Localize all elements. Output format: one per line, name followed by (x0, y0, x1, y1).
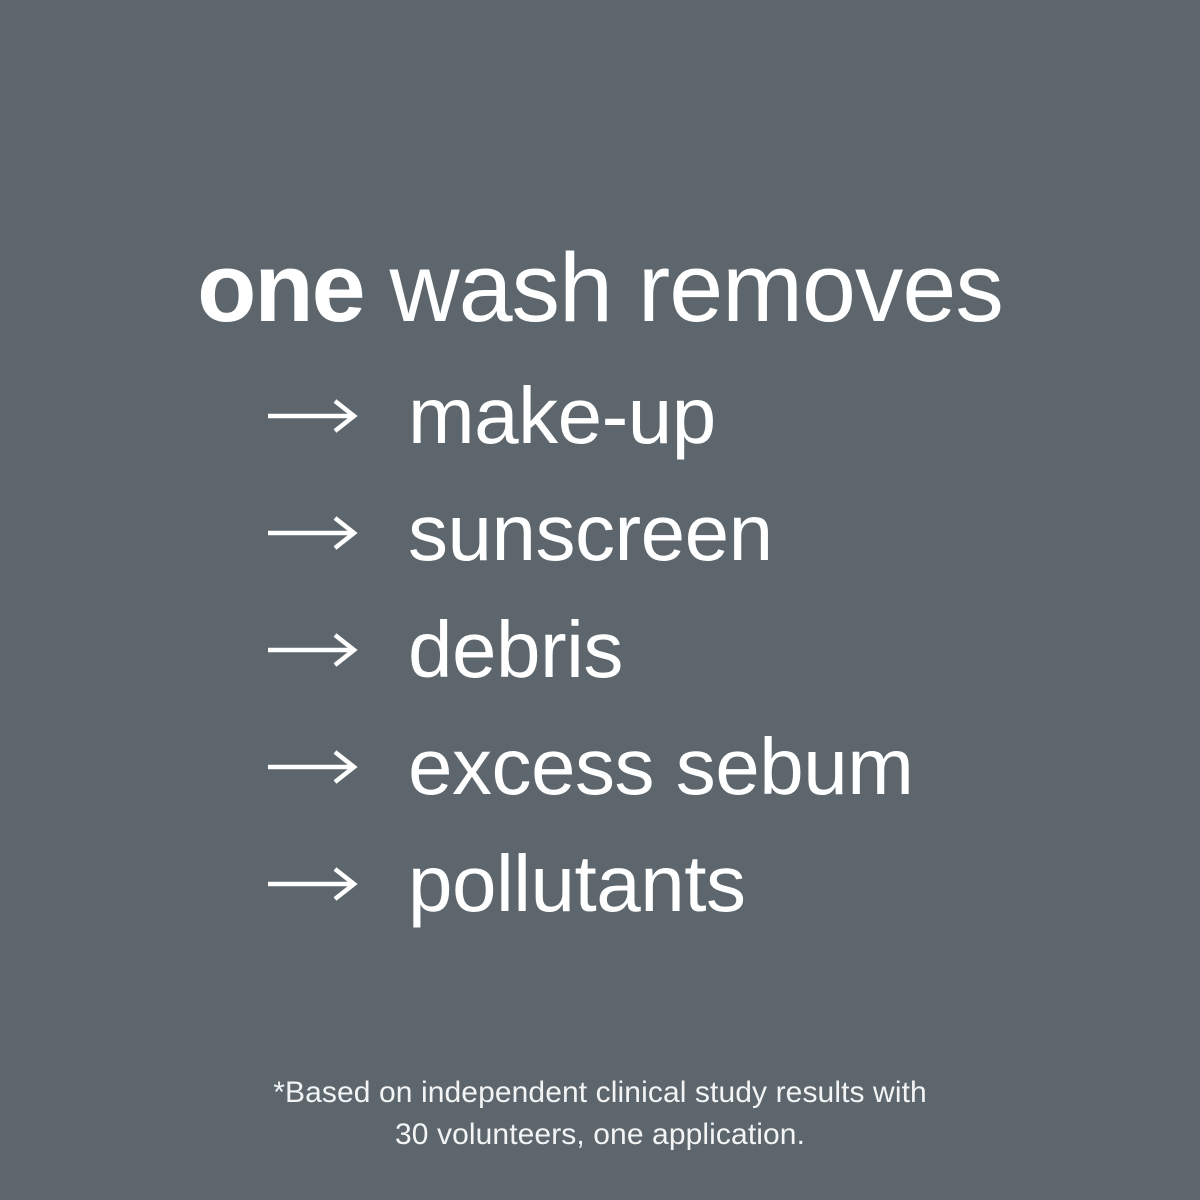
long-right-arrow-icon (266, 396, 362, 436)
benefits-list: make-up sunscreen debris (266, 373, 1126, 927)
benefit-label: make-up (408, 373, 716, 459)
headline-rest: wash removes (364, 233, 1003, 342)
benefit-label: excess sebum (408, 724, 913, 810)
headline-emphasis: one (197, 233, 363, 342)
list-item: excess sebum (266, 724, 1126, 810)
footnote-line-1: *Based on independent clinical study res… (0, 1072, 1200, 1114)
long-right-arrow-icon (266, 630, 362, 670)
benefit-label: pollutants (408, 841, 745, 927)
long-right-arrow-icon (266, 747, 362, 787)
list-item: pollutants (266, 841, 1126, 927)
promo-poster: one wash removes make-up sunscreen (0, 0, 1200, 1200)
benefit-label: sunscreen (408, 490, 773, 576)
footnote: *Based on independent clinical study res… (0, 1072, 1200, 1156)
footnote-line-2: 30 volunteers, one application. (0, 1114, 1200, 1156)
page-title: one wash removes (0, 233, 1200, 343)
list-item: make-up (266, 373, 1126, 459)
benefit-label: debris (408, 607, 623, 693)
list-item: debris (266, 607, 1126, 693)
long-right-arrow-icon (266, 513, 362, 553)
long-right-arrow-icon (266, 864, 362, 904)
list-item: sunscreen (266, 490, 1126, 576)
